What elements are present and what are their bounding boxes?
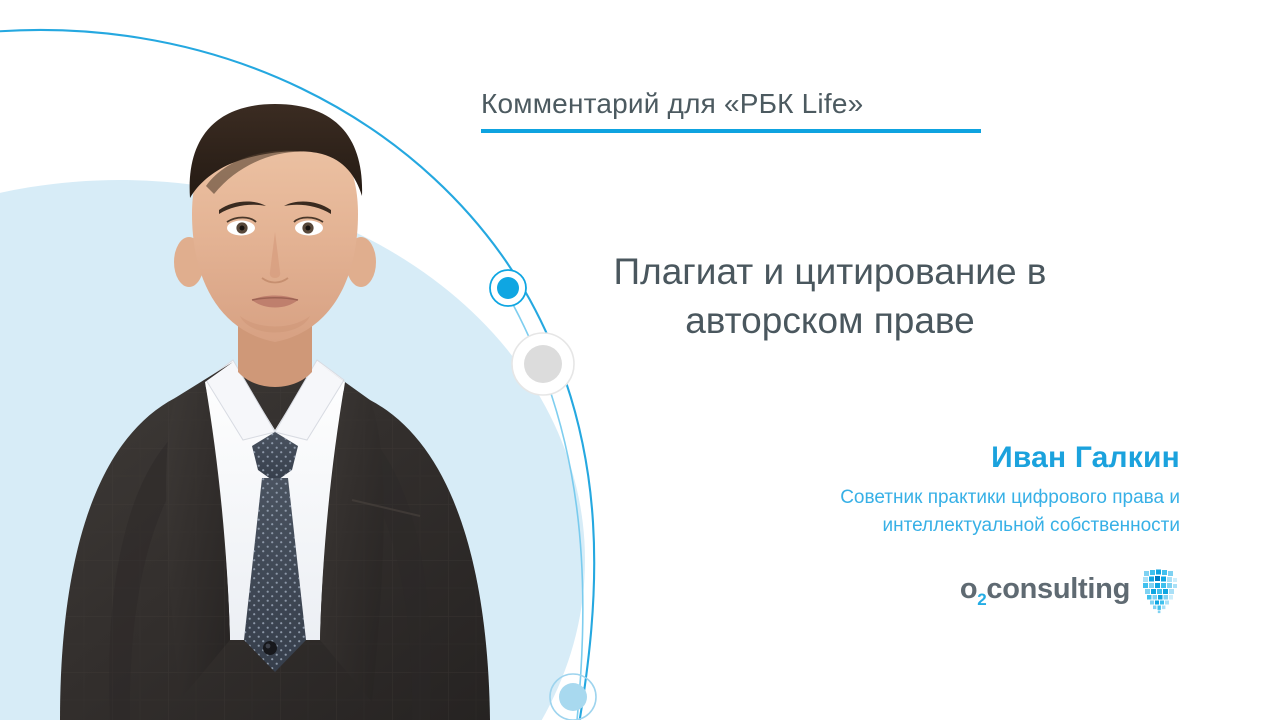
speaker-role-line-2: интеллектуальной собственности <box>620 512 1180 540</box>
speaker-portrait <box>0 0 560 720</box>
logo-wordmark: o2consulting <box>960 575 1130 608</box>
speaker-block: Иван Галкин Советник практики цифрового … <box>620 440 1180 539</box>
header-block: Комментарий для «РБК Life» <box>481 88 981 133</box>
portrait-illustration <box>0 0 560 720</box>
speaker-name: Иван Галкин <box>620 440 1180 476</box>
header-title: Комментарий для «РБК Life» <box>481 88 981 120</box>
page-title: Плагиат и цитирование в авторском праве <box>540 248 1120 346</box>
shield-globe-logo-mark-icon <box>1140 568 1180 614</box>
logo-word-consulting: consulting <box>986 573 1130 605</box>
header-underline <box>481 129 981 133</box>
page-title-line-2: авторском праве <box>540 297 1120 346</box>
company-logo: o2consulting <box>900 568 1180 614</box>
logo-letter-o: o <box>960 573 977 605</box>
head <box>174 104 376 342</box>
page-title-line-1: Плагиат и цитирование в <box>540 248 1120 297</box>
presentation-slide: Комментарий для «РБК Life» Плагиат и цит… <box>0 0 1280 720</box>
speaker-role: Советник практики цифрового права и инте… <box>620 484 1180 539</box>
speaker-role-line-1: Советник практики цифрового права и <box>620 484 1180 512</box>
